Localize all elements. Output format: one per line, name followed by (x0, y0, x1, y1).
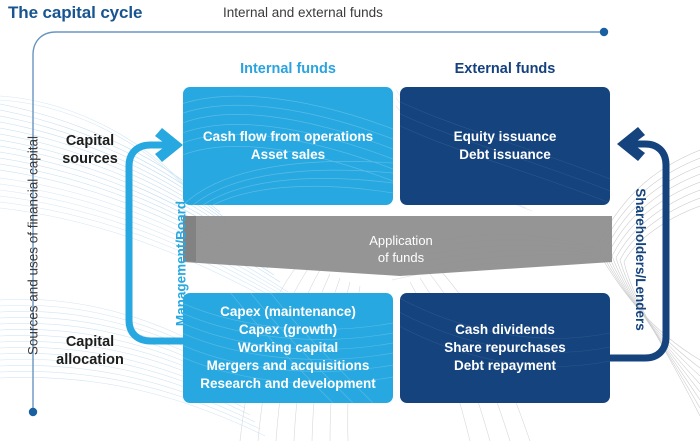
box-external-sources-text: Equity issuance Debt issuance (454, 128, 557, 164)
arrow-label-shareholders-lenders: Shareholders/Lenders (633, 172, 648, 347)
page-title: The capital cycle (8, 3, 142, 23)
page-subtitle: Internal and external funds (223, 5, 383, 20)
axis-dot-top (600, 28, 608, 36)
box-internal-funds-allocation: Capex (maintenance) Capex (growth) Worki… (183, 293, 393, 403)
diagram-canvas: The capital cycle Internal and external … (0, 0, 700, 441)
funnel-label-application-of-funds: Application of funds (330, 233, 472, 267)
box-external-allocation-text: Cash dividends Share repurchases Debt re… (444, 321, 566, 374)
box-internal-funds-sources: Cash flow from operations Asset sales (183, 87, 393, 205)
shareholders-lenders-arrowhead (617, 127, 645, 161)
box-internal-sources-text: Cash flow from operations Asset sales (203, 128, 373, 164)
box-external-funds-allocation: Cash dividends Share repurchases Debt re… (400, 293, 610, 403)
box-external-funds-sources: Equity issuance Debt issuance (400, 87, 610, 205)
row-label-capital-sources: Capital sources (42, 132, 138, 168)
column-heading-external-funds: External funds (400, 61, 610, 77)
box-internal-allocation-text: Capex (maintenance) Capex (growth) Worki… (200, 303, 376, 392)
column-heading-internal-funds: Internal funds (183, 61, 393, 77)
row-label-capital-allocation: Capital allocation (42, 333, 138, 369)
management-board-arrowhead (155, 128, 183, 162)
axis-label-vertical: Sources and uses of financial capital (26, 76, 41, 416)
